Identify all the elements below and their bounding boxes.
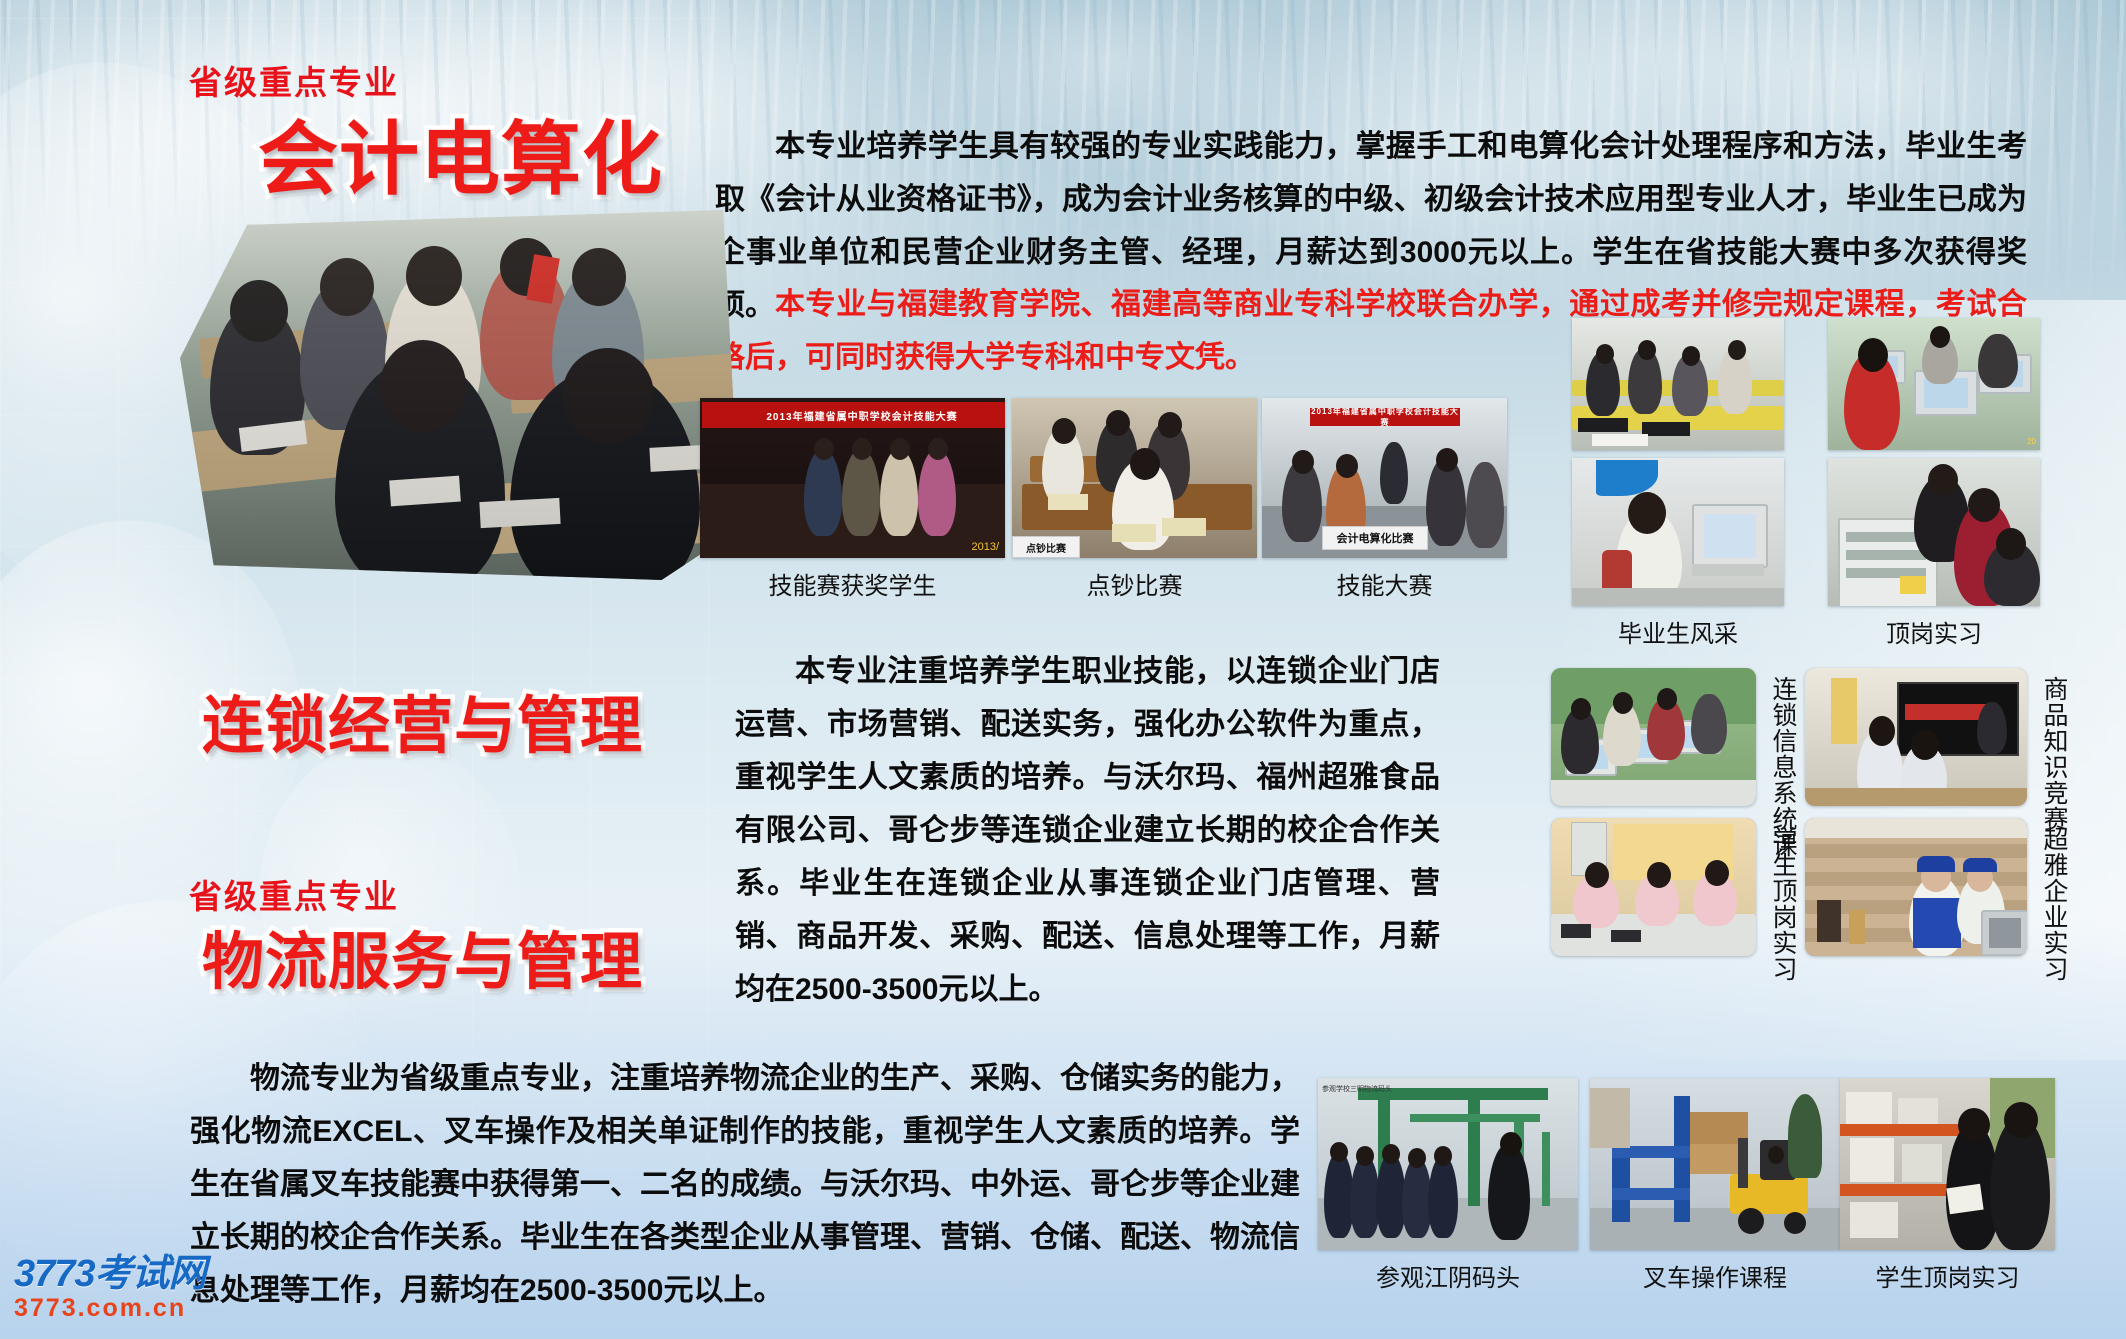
- section-1-eyebrow: 省级重点专业: [189, 66, 399, 99]
- photo-caption-student-internship-logistics: 学生顶岗实习: [1840, 1258, 2055, 1293]
- photo-caption-chaoya-enterprise-internship: 超雅企业实习: [2036, 826, 2072, 954]
- photo-caption-jiangyin-port-visit: 参观江阴码头: [1318, 1258, 1578, 1293]
- photo-caption-product-knowledge-contest: 商品知识竞赛: [2036, 676, 2072, 804]
- photo-forklift-course: [1590, 1078, 1840, 1250]
- photo-accounting-lab-2: 20: [1828, 318, 2040, 450]
- photo-label: 点钞比赛: [1012, 536, 1080, 558]
- hero-photo-accounting-class: [180, 210, 740, 580]
- photo-accounting-lab-1: [1572, 318, 1784, 450]
- photo-student-internship-chain: [1551, 818, 1756, 956]
- photo-caption-student-internship-chain: 学生顶岗实习: [1765, 826, 1801, 954]
- section-3-paragraph: 物流专业为省级重点专业，注重培养物流企业的生产、采购、仓储实务的能力，强化物流E…: [190, 1052, 1300, 1317]
- photo-skill-contest-winners: 2013年福建省属中职学校会计技能大赛 2013/: [700, 398, 1005, 558]
- photo-skill-competition: 2013年福建省属中职学校会计技能大赛 会计电算化比赛: [1262, 398, 1507, 558]
- photo-product-knowledge-contest: [1805, 668, 2027, 806]
- photo-caption-graduate-profile: 毕业生风采: [1572, 614, 1784, 649]
- watermark-domain: 3773.com.cn: [14, 1293, 206, 1323]
- photo-caption-forklift-course: 叉车操作课程: [1590, 1258, 1840, 1293]
- watermark-logo: 3773考试网 3773.com.cn: [14, 1255, 206, 1323]
- photo-graduate-profile: [1572, 458, 1784, 606]
- photo-banner-text: 2013年福建省属中职学校会计技能大赛: [1310, 408, 1460, 426]
- photo-student-internship-logistics: [1840, 1078, 2055, 1250]
- photo-timestamp: 参观学校三明物流码头: [1322, 1084, 1392, 1094]
- photo-timestamp: 2013/: [971, 541, 999, 553]
- section-2-paragraph: 本专业注重培养学生职业技能，以连锁企业门店运营、市场营销、配送实务，强化办公软件…: [735, 645, 1440, 1016]
- photo-jiangyin-port-visit: 参观学校三明物流码头: [1318, 1078, 1578, 1250]
- photo-cash-counting-contest: 点钞比赛: [1012, 398, 1257, 558]
- photo-caption-cash-counting-contest: 点钞比赛: [1012, 566, 1257, 601]
- photo-caption-internship-accounting: 顶岗实习: [1828, 614, 2040, 649]
- photo-chaoya-enterprise-internship: [1805, 818, 2027, 956]
- photo-caption-skill-competition: 技能大赛: [1262, 566, 1507, 601]
- photo-chain-info-system-class: [1551, 668, 1756, 806]
- photo-label: 会计电算化比赛: [1322, 526, 1428, 550]
- section-2-title: 连锁经营与管理: [202, 696, 643, 758]
- photo-caption-skill-contest-winners: 技能赛获奖学生: [700, 566, 1005, 601]
- section-3-title: 物流服务与管理: [202, 932, 643, 994]
- photo-internship-accounting: [1828, 458, 2040, 606]
- section-1-title: 会计电算化: [258, 120, 663, 200]
- watermark-brand: 3773考试网: [14, 1255, 206, 1293]
- photo-caption-chain-info-system-class: 连锁信息系统课: [1765, 676, 1801, 804]
- photo-banner-text: 2013年福建省属中职学校会计技能大赛: [702, 402, 1005, 428]
- section-3-eyebrow: 省级重点专业: [189, 880, 399, 913]
